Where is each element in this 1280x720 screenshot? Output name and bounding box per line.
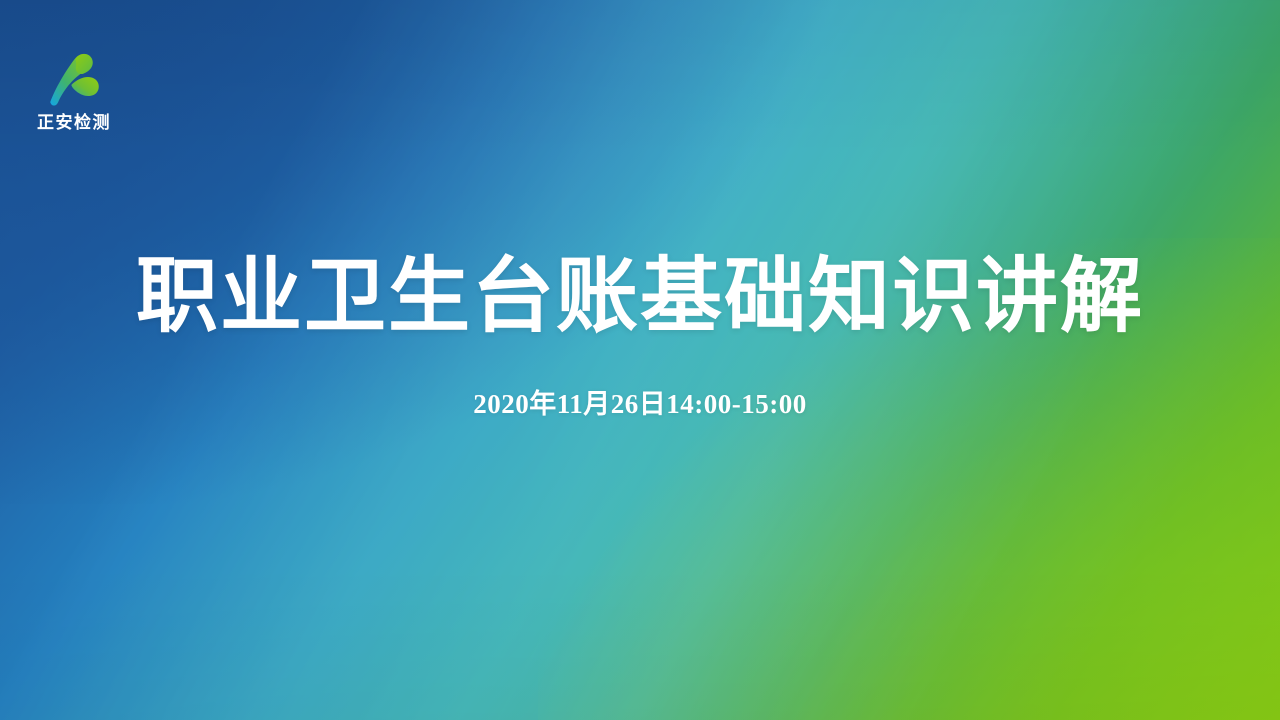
brand-logo: 正安检测 bbox=[14, 44, 134, 149]
title-slide: 正安检测 职业卫生台账基础知识讲解 2020年11月26日14:00-15:00 bbox=[0, 0, 1280, 720]
headline-block: 职业卫生台账基础知识讲解 2020年11月26日14:00-15:00 bbox=[0, 252, 1280, 421]
brand-name: 正安检测 bbox=[14, 114, 134, 131]
session-datetime: 2020年11月26日14:00-15:00 bbox=[0, 342, 1280, 420]
page-title: 职业卫生台账基础知识讲解 bbox=[0, 252, 1280, 342]
brand-lambda-icon bbox=[41, 44, 107, 110]
